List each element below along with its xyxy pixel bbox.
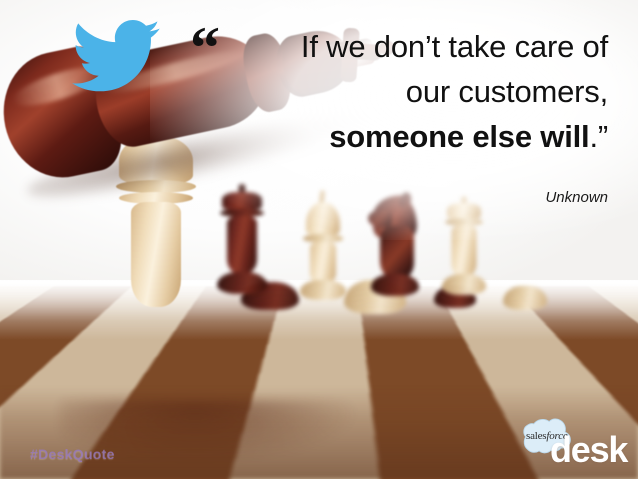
chess-piece-queen-dark	[214, 184, 270, 300]
quote-attribution: Unknown	[300, 189, 608, 206]
quote-slide: “ If we don’t take care of our customers…	[0, 0, 638, 479]
chess-piece-queen-light	[438, 196, 490, 304]
hashtag-label: #DeskQuote	[30, 446, 115, 462]
salesforce-sales-text: sales	[526, 430, 546, 442]
desk-wordmark: desk	[550, 432, 627, 468]
chess-piece-knight-dark	[366, 196, 424, 302]
opening-quote-mark: “	[190, 18, 220, 78]
quote-line-3: someone else will.”	[150, 114, 608, 159]
twitter-bird-icon[interactable]	[72, 20, 160, 92]
quote-closing-punctuation: .”	[589, 119, 608, 154]
desk-salesforce-logo[interactable]: salesforce desk	[506, 418, 630, 472]
chess-piece-back-light-2	[500, 286, 550, 312]
quote-block: “ If we don’t take care of our customers…	[150, 24, 608, 159]
chess-piece-bishop-light	[296, 190, 350, 302]
quote-emphasis: someone else will	[329, 119, 589, 154]
